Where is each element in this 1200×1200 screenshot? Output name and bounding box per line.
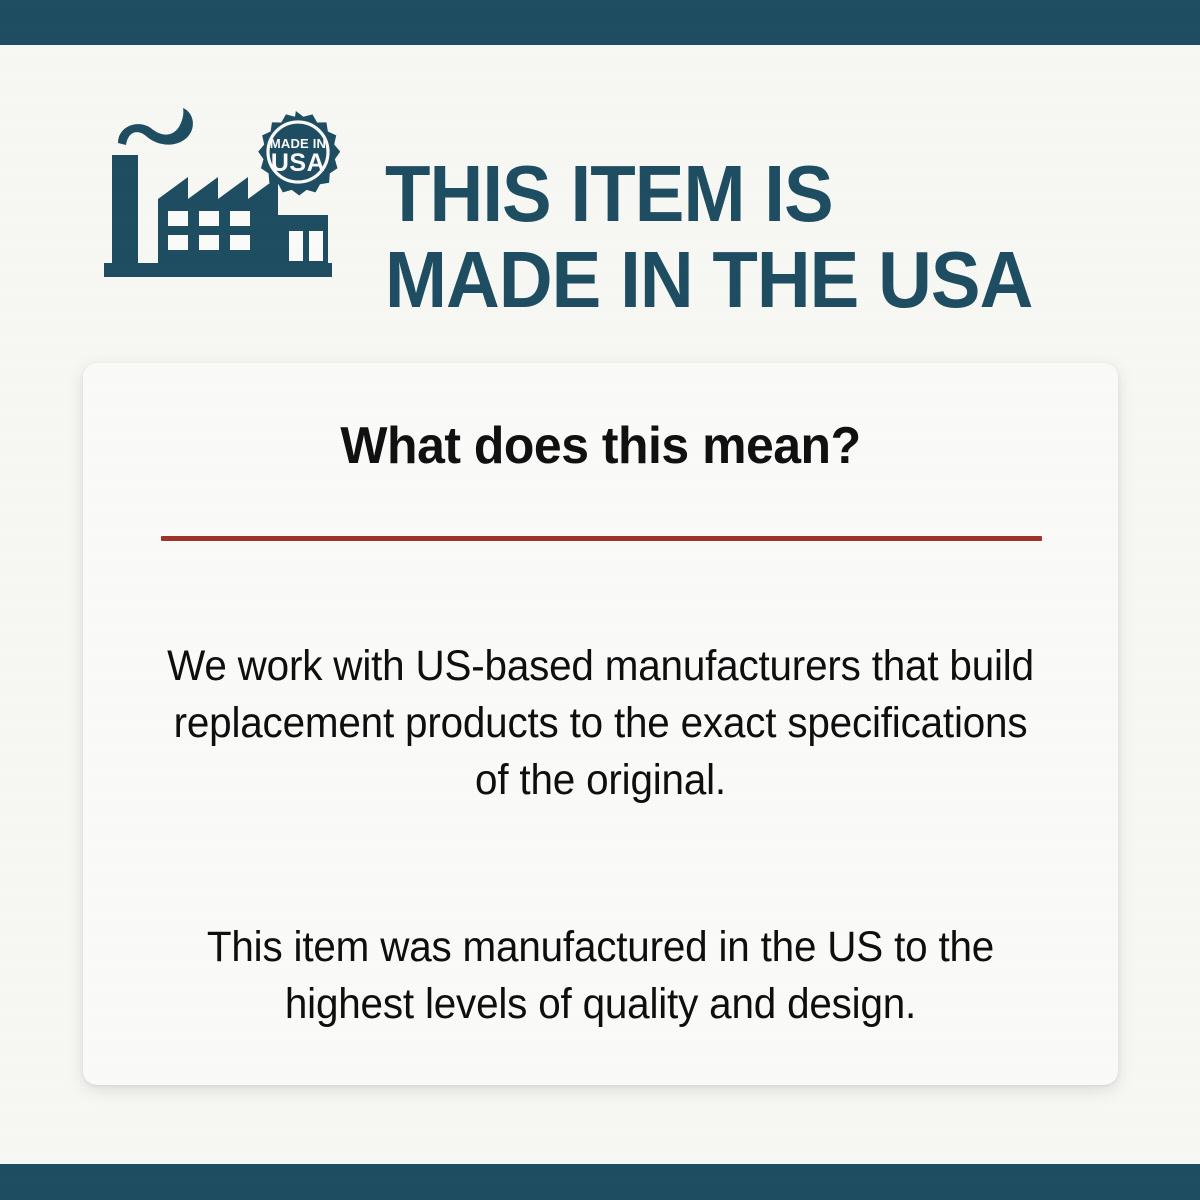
made-in-usa-logo: MADE IN USA [100,103,340,283]
badge-usa-text: USA [271,149,325,177]
red-divider [161,536,1042,541]
bottom-accent-bar [0,1164,1200,1200]
card-paragraph-2: This item was manufactured in the US to … [163,919,1038,1033]
card-paragraph-1: We work with US-based manufacturers that… [163,638,1038,809]
page-header: MADE IN USA THIS ITEM IS MADE IN THE USA [0,45,1200,345]
page-title-line-1: THIS ITEM IS [385,149,833,238]
card-heading: What does this mean? [104,417,1098,475]
page-title: THIS ITEM IS MADE IN THE USA [385,151,1120,323]
factory-icon: MADE IN USA [100,103,340,283]
explanation-card: What does this mean? We work with US-bas… [83,363,1118,1085]
page-title-line-2: MADE IN THE USA [385,237,1120,323]
top-accent-bar [0,0,1200,45]
